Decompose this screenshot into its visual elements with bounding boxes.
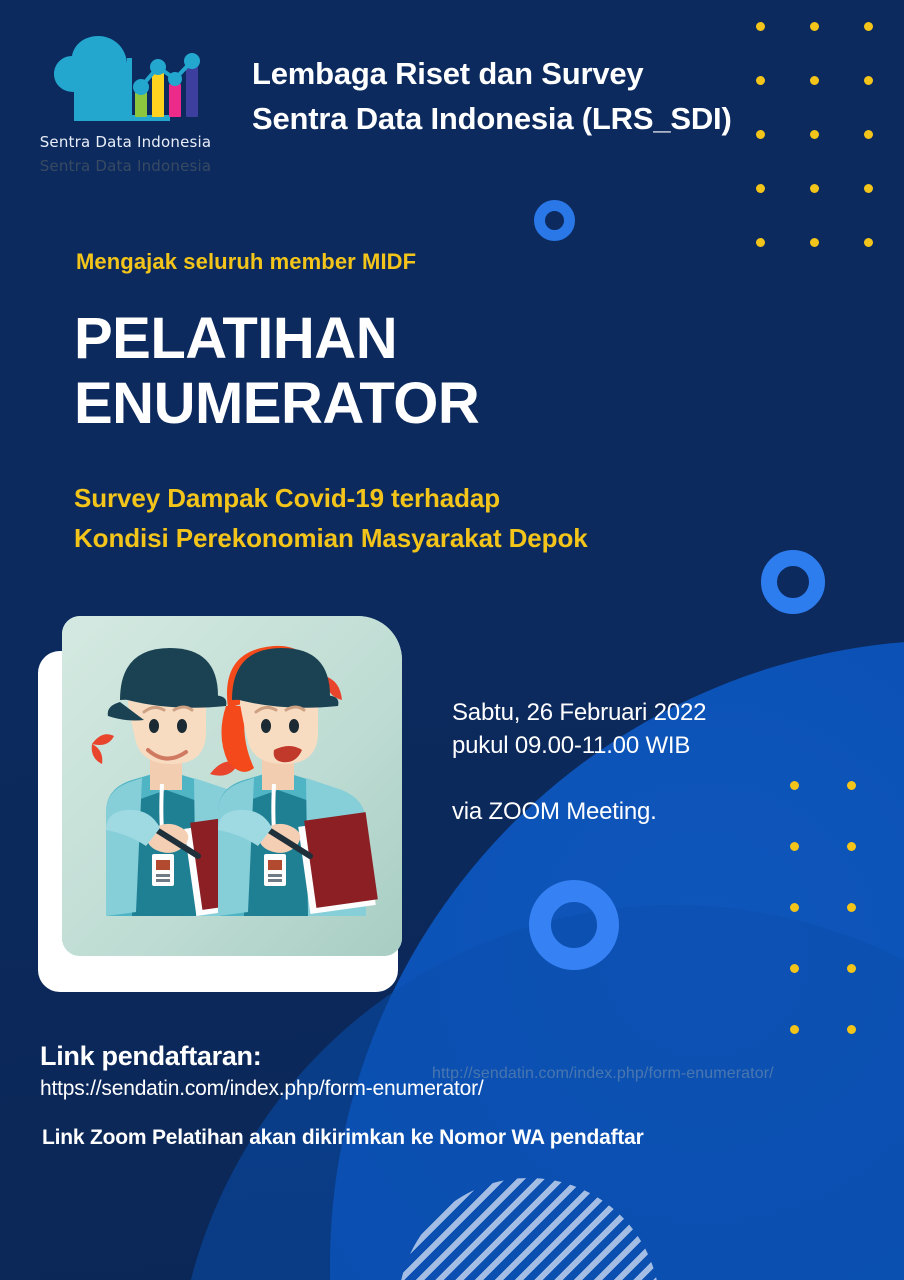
dot-grid-right [790, 781, 904, 1086]
decorative-dot [847, 842, 856, 851]
zoom-link-note: Link Zoom Pelatihan akan dikirimkan ke N… [42, 1126, 644, 1150]
poster-canvas: Sentra Data Indonesia Sentra Data Indone… [0, 0, 904, 1280]
decorative-dot [810, 184, 819, 193]
decorative-dot [864, 184, 873, 193]
event-platform: via ZOOM Meeting. [452, 798, 657, 826]
logo-caption: Sentra Data Indonesia [28, 133, 223, 151]
two-enumerators-icon [62, 616, 402, 956]
event-headline: PELATIHAN ENUMERATOR [74, 307, 479, 437]
event-schedule: Sabtu, 26 Februari 2022 pukul 09.00-11.0… [452, 696, 706, 762]
event-headline-line-2: ENUMERATOR [74, 372, 479, 437]
decorative-dot [790, 842, 799, 851]
decorative-dot [756, 130, 765, 139]
decorative-dot [864, 130, 873, 139]
decorative-dot [810, 76, 819, 85]
decorative-dot [847, 781, 856, 790]
decorative-dot [810, 22, 819, 31]
event-time: pukul 09.00-11.00 WIB [452, 729, 706, 762]
invitation-kicker: Mengajak seluruh member MIDF [76, 249, 416, 275]
decorative-dot [864, 22, 873, 31]
decorative-dot [756, 76, 765, 85]
event-date: Sabtu, 26 Februari 2022 [452, 696, 706, 729]
registration-label: Link pendaftaran: [40, 1041, 261, 1072]
dot-grid-top-right [756, 22, 904, 292]
decorative-dot [847, 903, 856, 912]
decorative-dot [847, 964, 856, 973]
ring-decoration-right [761, 550, 825, 614]
ring-decoration-bottom [529, 880, 619, 970]
enumerator-illustration [62, 616, 402, 956]
decorative-dot [864, 238, 873, 247]
organization-title-line-2: Sentra Data Indonesia (LRS_SDI) [252, 97, 732, 142]
decorative-dot [790, 903, 799, 912]
decorative-dot [864, 76, 873, 85]
decorative-dot [790, 1025, 799, 1034]
cloud-chart-logo-icon [42, 32, 212, 137]
decorative-dot [810, 238, 819, 247]
decorative-dot [756, 184, 765, 193]
organization-logo: Sentra Data Indonesia Sentra Data Indone… [28, 32, 223, 151]
event-subheadline-line-2: Kondisi Perekonomian Masyarakat Depok [74, 518, 588, 558]
event-headline-line-1: PELATIHAN [74, 307, 479, 372]
event-subheadline: Survey Dampak Covid-19 terhadap Kondisi … [74, 478, 588, 559]
decorative-dot [790, 964, 799, 973]
registration-link[interactable]: https://sendatin.com/index.php/form-enum… [40, 1077, 484, 1101]
decorative-dot [756, 22, 765, 31]
event-subheadline-line-1: Survey Dampak Covid-19 terhadap [74, 478, 588, 518]
ring-decoration-top [534, 200, 575, 241]
decorative-dot [790, 781, 799, 790]
organization-title-line-1: Lembaga Riset dan Survey [252, 52, 732, 97]
decorative-dot [756, 238, 765, 247]
logo-caption-watermark: Sentra Data Indonesia [28, 157, 223, 175]
decorative-dot [847, 1025, 856, 1034]
organization-title: Lembaga Riset dan Survey Sentra Data Ind… [252, 52, 732, 141]
decorative-dot [810, 130, 819, 139]
